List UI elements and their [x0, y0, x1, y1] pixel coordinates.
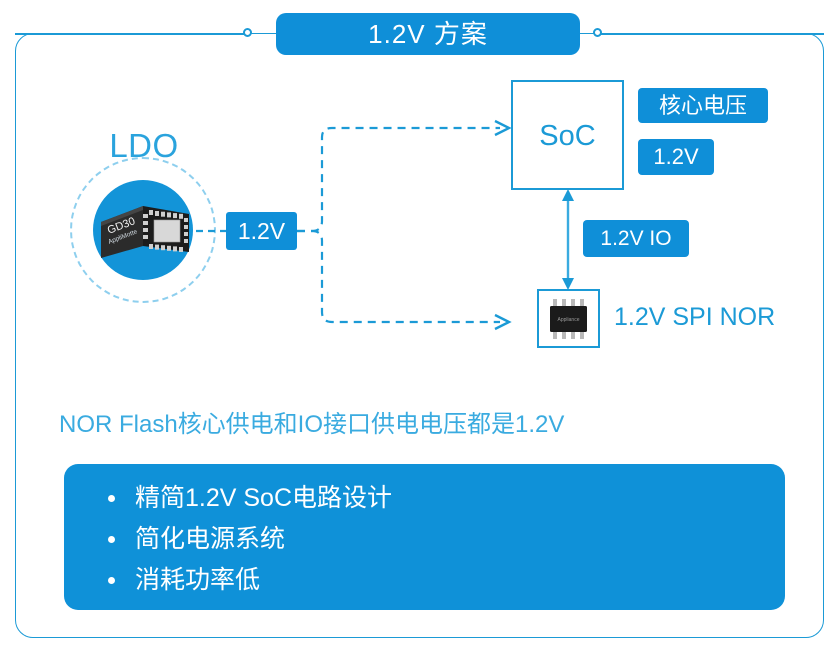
- core-voltage-badge: 核心电压: [638, 88, 768, 123]
- nor-flash-chip-icon: Appliance: [545, 298, 592, 340]
- title-connector-dot-right: [593, 28, 602, 37]
- caption-text: NOR Flash核心供电和IO接口供电电压都是1.2V: [59, 404, 564, 439]
- page-title: 1.2V 方案: [276, 13, 580, 55]
- io-voltage-badge: 1.2V IO: [583, 220, 689, 257]
- title-connector-dot-left: [243, 28, 252, 37]
- list-item: 精简1.2V SoC电路设计: [104, 478, 785, 519]
- benefits-panel: 精简1.2V SoC电路设计 简化电源系统 消耗功率低: [64, 464, 785, 610]
- diagram-canvas: 1.2V 方案 LDO GD30 AppliMotte 1.2V: [0, 0, 839, 653]
- soc-block: SoC: [511, 80, 624, 190]
- core-voltage-value-badge: 1.2V: [638, 139, 714, 175]
- nor-chip-marking: Appliance: [558, 317, 580, 323]
- source-voltage-badge: 1.2V: [226, 212, 297, 250]
- ldo-chip-icon: GD30 AppliMotte: [97, 196, 193, 266]
- title-connector-line-right: [601, 33, 824, 35]
- title-connector-line-left: [15, 33, 247, 35]
- list-item: 简化电源系统: [104, 519, 785, 560]
- list-item: 消耗功率低: [104, 560, 785, 601]
- benefits-list: 精简1.2V SoC电路设计 简化电源系统 消耗功率低: [64, 478, 785, 601]
- nor-flash-label: 1.2V SPI NOR: [614, 303, 775, 332]
